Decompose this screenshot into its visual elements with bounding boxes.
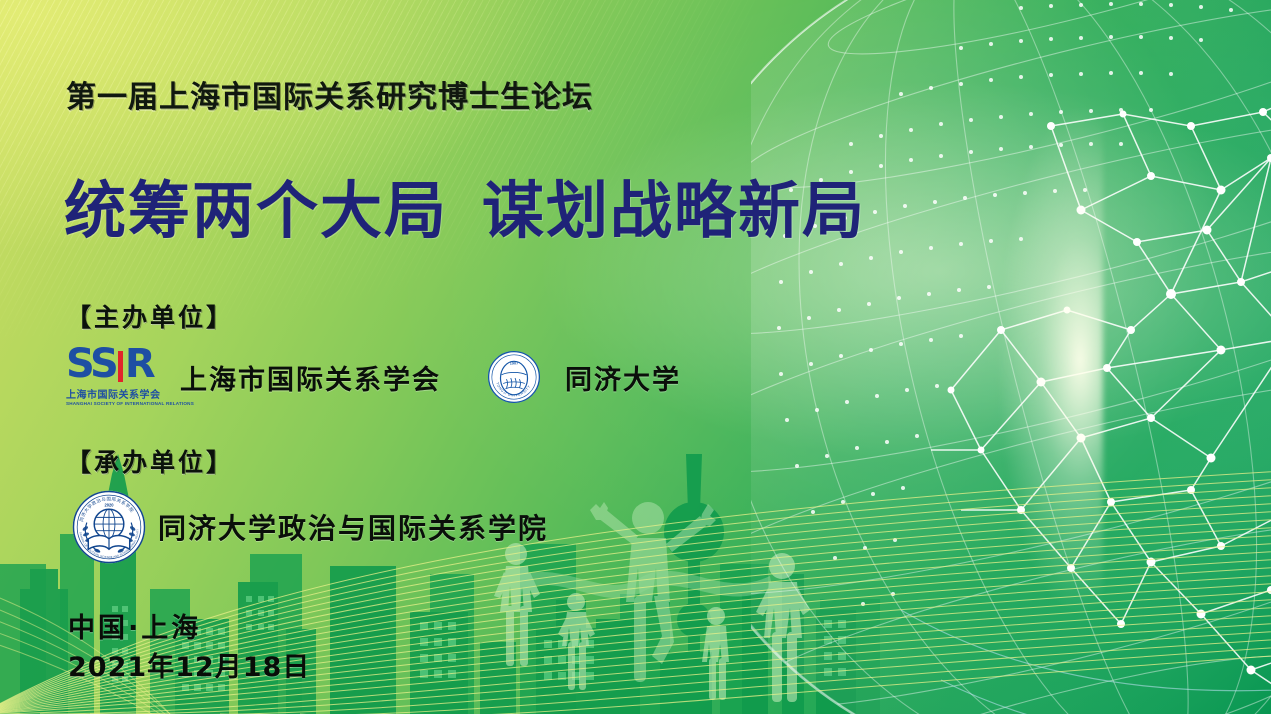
ssir-logo: SS R 上海市国际关系学会 SHANGHAI SOCIETY OF INTER… — [66, 348, 166, 406]
event-location: 中国·上海 — [68, 606, 201, 645]
ssir-logo-caption-cn: 上海市国际关系学会 — [66, 386, 166, 401]
host-unit-name-tongji: 同济大学 — [565, 358, 681, 397]
host-units-row: SS R 上海市国际关系学会 SHANGHAI SOCIETY OF INTER… — [66, 348, 681, 406]
host-section-label: 【主办单位】 — [66, 298, 234, 334]
svg-text:2020: 2020 — [104, 502, 114, 507]
host-unit-ssir: SS R 上海市国际关系学会 SHANGHAI SOCIETY OF INTER… — [66, 348, 441, 406]
page-title: 统筹两个大局谋划战略新局 — [64, 160, 866, 250]
host-unit-tongji: 1907 TONGJI UNIVERSITY 同济大学 — [487, 350, 681, 404]
headline-part-right: 谋划战略新局 — [482, 174, 866, 247]
ssir-logo-red-bar — [118, 351, 123, 382]
event-date: 2021年12月18日 — [68, 645, 310, 684]
poster-canvas: 第一届上海市国际关系研究博士生论坛 统筹两个大局谋划战略新局 【主办单位】 SS… — [0, 0, 1271, 714]
organizer-unit-name: 同济大学政治与国际关系学院 — [158, 507, 548, 547]
poster-content: 第一届上海市国际关系研究博士生论坛 统筹两个大局谋划战略新局 【主办单位】 SS… — [0, 0, 1271, 714]
school-of-political-science-and-international-relations-seal-icon: 同济大学政治与国际关系学院 SCHOOL OF POLITICAL SCIENC… — [72, 490, 146, 564]
host-unit-name-ssir: 上海市国际关系学会 — [180, 358, 441, 397]
ssir-logo-letters-left: SS — [66, 344, 116, 384]
headline-part-left: 统筹两个大局 — [64, 174, 448, 247]
forum-kicker-title: 第一届上海市国际关系研究博士生论坛 — [66, 72, 593, 116]
organizer-units-row: 同济大学政治与国际关系学院 SCHOOL OF POLITICAL SCIENC… — [72, 490, 548, 564]
ssir-logo-mark: SS R — [66, 348, 166, 384]
svg-text:1907: 1907 — [510, 362, 518, 366]
organizer-section-label: 【承办单位】 — [66, 443, 234, 479]
tongji-university-seal-icon: 1907 TONGJI UNIVERSITY — [487, 350, 541, 404]
ssir-logo-caption-en: SHANGHAI SOCIETY OF INTERNATIONAL RELATI… — [66, 401, 166, 406]
ssir-logo-letter-right: R — [125, 344, 154, 384]
